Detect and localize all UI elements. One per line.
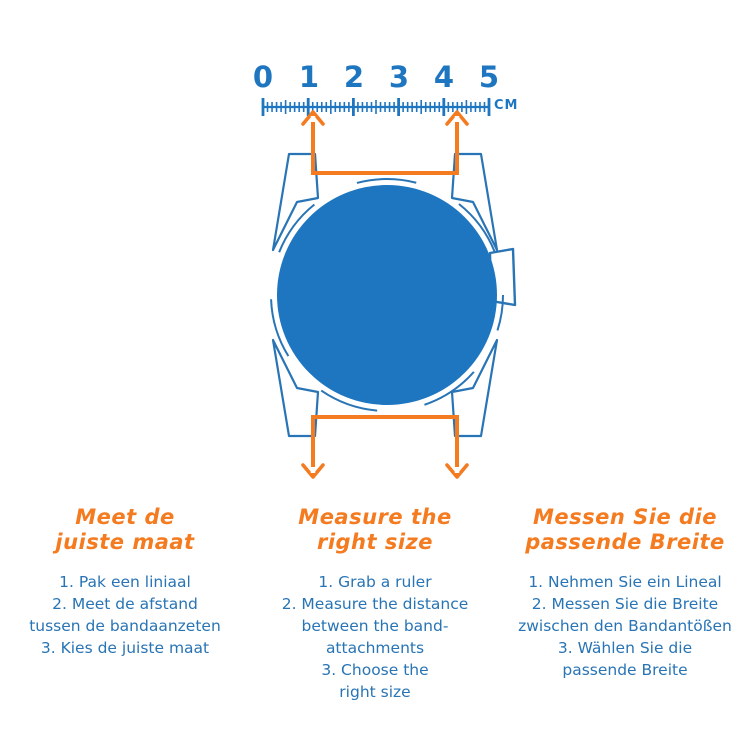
- ruler-number-4: 4: [431, 60, 457, 94]
- ruler-number-1: 1: [296, 60, 322, 94]
- measure-guide-page: 0 1 2 3 4 5 CM: [0, 0, 750, 750]
- step-item: 3. Choose the right size: [256, 659, 494, 703]
- ruler-number-3: 3: [386, 60, 412, 94]
- step-item: 3. Wählen Sie die passende Breite: [506, 637, 744, 681]
- column-heading-de: Messen Sie die passende Breite: [506, 505, 744, 555]
- watch-illustration: [225, 110, 545, 480]
- ruler-number-row: 0 1 2 3 4 5: [250, 60, 495, 94]
- column-steps-nl: 1. Pak een liniaal 2. Meet de afstand tu…: [6, 571, 244, 659]
- column-steps-en: 1. Grab a ruler 2. Measure the distance …: [256, 571, 494, 703]
- step-item: 1. Pak een liniaal: [6, 571, 244, 593]
- measure-bracket-bottom: [303, 415, 467, 477]
- instruction-column-en: Measure the right size 1. Grab a ruler 2…: [250, 505, 500, 703]
- instruction-columns: Meet de juiste maat 1. Pak een liniaal 2…: [0, 505, 750, 703]
- watch-dial: [277, 185, 497, 405]
- instruction-column-nl: Meet de juiste maat 1. Pak een liniaal 2…: [0, 505, 250, 659]
- column-steps-de: 1. Nehmen Sie ein Lineal 2. Messen Sie d…: [506, 571, 744, 681]
- ruler-number-0: 0: [250, 60, 276, 94]
- step-item: 2. Measure the distance between the band…: [256, 593, 494, 659]
- step-item: 1. Nehmen Sie ein Lineal: [506, 571, 744, 593]
- column-heading-nl: Meet de juiste maat: [6, 505, 244, 555]
- step-item: 2. Messen Sie die Breite zwischen den Ba…: [506, 593, 744, 637]
- step-item: 3. Kies de juiste maat: [6, 637, 244, 659]
- instruction-column-de: Messen Sie die passende Breite 1. Nehmen…: [500, 505, 750, 681]
- measure-bracket-top: [303, 112, 467, 175]
- step-item: 2. Meet de afstand tussen de bandaanzete…: [6, 593, 244, 637]
- ruler-number-2: 2: [341, 60, 367, 94]
- column-heading-en: Measure the right size: [256, 505, 494, 555]
- step-item: 1. Grab a ruler: [256, 571, 494, 593]
- ruler-number-5: 5: [476, 60, 502, 94]
